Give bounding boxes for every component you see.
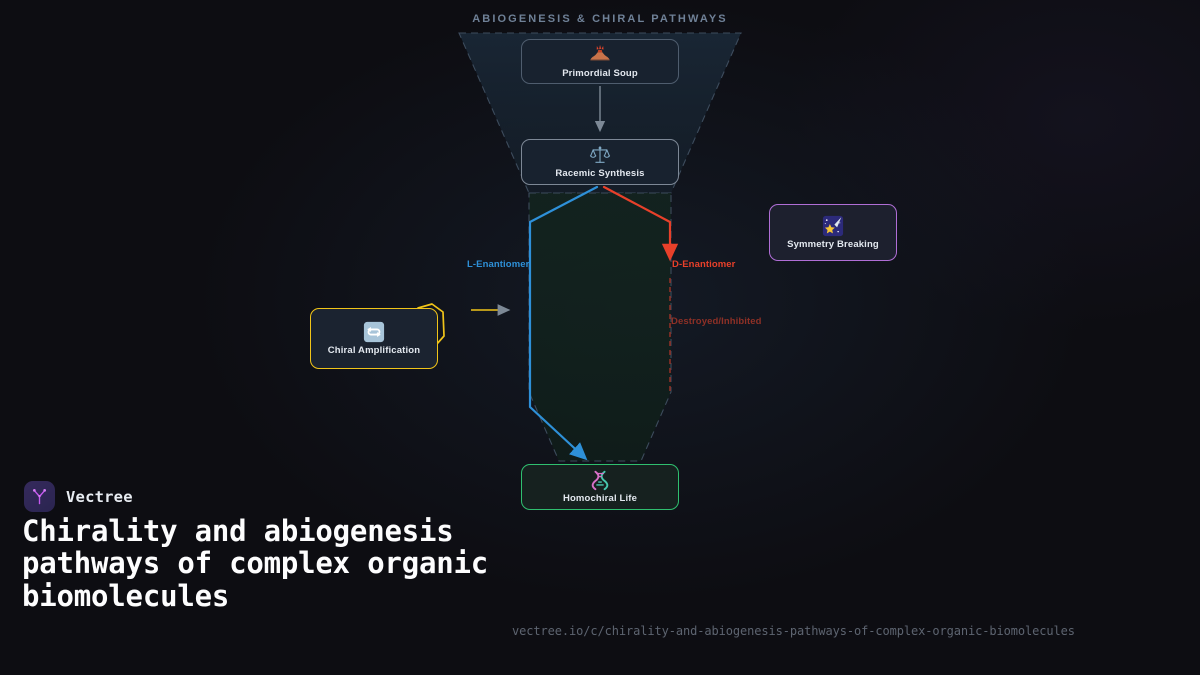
brand-name: Vectree <box>66 488 133 506</box>
dna-icon <box>589 469 611 491</box>
volcano-icon <box>589 44 611 66</box>
node-label: Chiral Amplification <box>328 346 420 357</box>
edge-label-destroyed-inhibited: Destroyed/Inhibited <box>671 316 762 327</box>
page-title: Chirality and abiogenesis pathways of co… <box>22 515 492 612</box>
edge-label-l-enantiomer: L-Enantiomer <box>467 259 529 270</box>
edge-label-d-enantiomer: D-Enantiomer <box>672 259 735 270</box>
section-title: ABIOGENESIS & CHIRAL PATHWAYS <box>460 13 740 25</box>
node-homochiral-life[interactable]: Homochiral Life <box>521 464 679 510</box>
shooting-star-icon <box>822 215 844 237</box>
node-label: Racemic Synthesis <box>555 169 644 180</box>
node-chiral-amplification[interactable]: Chiral Amplification <box>310 308 438 369</box>
balance-scale-icon <box>589 144 611 166</box>
node-label: Symmetry Breaking <box>787 240 879 251</box>
node-racemic-synthesis[interactable]: Racemic Synthesis <box>521 139 679 185</box>
brand-row: Vectree <box>24 481 133 512</box>
funnel-region-lower <box>529 193 671 461</box>
node-label: Homochiral Life <box>563 494 637 505</box>
node-symmetry-breaking[interactable]: Symmetry Breaking <box>769 204 897 261</box>
vectree-tree-logo <box>24 481 55 512</box>
diagram-canvas: ABIOGENESIS & CHIRAL PATHWAYS Primordial… <box>0 0 1200 675</box>
node-primordial-soup[interactable]: Primordial Soup <box>521 39 679 84</box>
node-label: Primordial Soup <box>562 69 638 80</box>
repeat-cycle-icon <box>363 321 385 343</box>
page-url: vectree.io/c/chirality-and-abiogenesis-p… <box>512 624 1075 638</box>
tree-glyph-icon <box>30 487 49 506</box>
